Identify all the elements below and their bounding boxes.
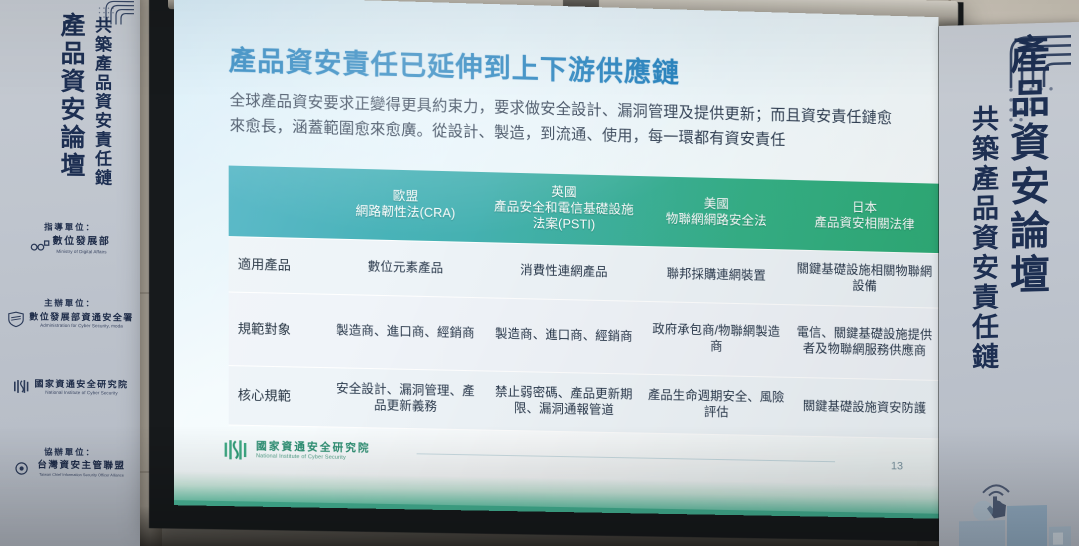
- sponsor-block-guidance: 指導單位： 數位發展部 Ministry of Digital Affairs: [0, 220, 140, 254]
- table-body: 適用產品 數位元素產品 消費性連網產品 聯邦採購連網裝置 關鍵基礎設施相關物聯網…: [229, 237, 939, 439]
- sponsor-heading-organizer: 主辦單位：: [0, 296, 140, 309]
- table-header-corner: [229, 166, 326, 239]
- slide-page-number: 13: [891, 460, 903, 472]
- banner-left-subtitle: 共築產品資安責任鏈: [89, 16, 114, 188]
- sponsor-name-en-guidance: Ministry of Digital Affairs: [53, 248, 111, 254]
- cell-applicable-jp: 關鍵基礎設施相關物聯網設備: [790, 250, 939, 308]
- footer-divider: [417, 453, 835, 462]
- cell-entities-eu: 製造商、進口商、經銷商: [326, 294, 485, 371]
- sponsor-name-en-organizer: Administration for Cyber Security, moda: [29, 323, 133, 329]
- nics-logo-icon: [12, 379, 32, 395]
- presentation-slide: 產品資安責任已延伸到上下游供應鏈 全球產品資安要求正變得更具約束力，要求做安全設…: [174, 0, 939, 519]
- sponsor-heading-guidance: 指導單位：: [0, 220, 140, 233]
- projector-screen: 產品資安責任已延伸到上下游供應鏈 全球產品資安要求正變得更具約束力，要求做安全設…: [174, 0, 939, 519]
- table-header-eu: 歐盟 網路韌性法(CRA): [326, 168, 485, 243]
- banner-right-subtitle: 共築產品資安責任鏈: [964, 104, 1003, 372]
- cell-entities-us: 政府承包商/物聯網製造商: [643, 301, 790, 377]
- row-label-core-requirements: 核心規範: [229, 366, 326, 427]
- sponsor-name-en-coorganizer: Taiwan Chief Information Security Office…: [37, 473, 125, 478]
- ciso-alliance-icon: [14, 460, 34, 476]
- footer-org-name: 國家資通安全研究院: [256, 441, 371, 455]
- footer-org-name-en: National Institute of Cyber Security: [256, 454, 371, 462]
- sponsor-name-nics: 國家資通安全研究院: [35, 379, 129, 390]
- cell-entities-uk: 製造商、進口商、經銷商: [485, 298, 643, 374]
- nics-logo-icon: [223, 438, 249, 463]
- sponsor-name-organizer: 數位發展部資通安全署: [29, 312, 133, 323]
- banner-photo-graphic: [953, 482, 1073, 546]
- cell-core-eu: 安全設計、漏洞管理、產品更新義務: [326, 368, 485, 430]
- cell-core-us: 產品生命週期安全、風險評估: [643, 374, 790, 436]
- table-header-uk: 英國 產品安全和電信基礎設施法案(PSTI): [485, 172, 643, 246]
- event-banner-left: 產品資安論壇 共築產品資安責任鏈 指導單位： 數位發展部 Ministry of…: [0, 0, 140, 546]
- table-header-jp: 日本 產品資安相關法律: [790, 180, 939, 254]
- cell-applicable-us: 聯邦採購連網裝置: [643, 246, 790, 304]
- comparison-table: 歐盟 網路韌性法(CRA) 英國 產品安全和電信基礎設施法案(PSTI) 美國 …: [229, 166, 939, 440]
- cell-applicable-uk: 消費性連網產品: [485, 243, 643, 302]
- sponsor-block-coorganizer: 協辦單位： 台灣資安主管聯盟 Taiwan Chief Information …: [0, 445, 140, 477]
- event-banner-right: 產品資安論壇 共築產品資安責任鏈: [939, 22, 1079, 546]
- slide-footer: 國家資通安全研究院 National Institute of Cyber Se…: [223, 438, 371, 465]
- sponsor-heading-coorganizer: 協辦單位：: [0, 445, 140, 458]
- cell-entities-jp: 電信、關鍵基礎設施提供者及物聯網服務供應商: [790, 305, 939, 381]
- header-law-jp: 產品資安相關法律: [794, 215, 936, 234]
- acs-shield-icon: [6, 312, 26, 328]
- sponsor-block-nics: 國家資通安全研究院 National Institute of Cyber Se…: [0, 375, 140, 396]
- header-law-eu: 網路韌性法(CRA): [330, 203, 481, 223]
- header-law-uk: 產品安全和電信基礎設施法案(PSTI): [489, 199, 639, 235]
- sponsor-name-guidance: 數位發展部: [53, 236, 111, 248]
- table-header-us: 美國 物聯網網路安全法: [643, 176, 790, 250]
- sponsor-name-en-nics: National Institute of Cyber Security: [35, 390, 129, 396]
- slide-body-text: 全球產品資安要求正變得更具約束力，要求做安全設計、漏洞管理及提供更新；而且資安責…: [230, 89, 897, 156]
- banner-left-title: 產品資安論壇: [52, 12, 88, 180]
- moda-logo-icon: [30, 236, 50, 252]
- cell-applicable-eu: 數位元素產品: [326, 239, 485, 298]
- slide-title: 產品資安責任已延伸到上下游供應鏈: [229, 39, 680, 91]
- row-label-applicable-products: 適用產品: [229, 237, 326, 295]
- sponsor-block-organizer: 主辦單位： 數位發展部資通安全署 Administration for Cybe…: [0, 296, 140, 329]
- row-label-regulated-entities: 規範對象: [229, 292, 326, 368]
- banner-right-title: 產品資安論壇: [997, 33, 1055, 299]
- header-law-us: 物聯網網路安全法: [647, 211, 786, 230]
- conference-room-scene: 產品資安論壇 共築產品資安責任鏈 指導單位： 數位發展部 Ministry of…: [0, 0, 1079, 546]
- cell-core-uk: 禁止弱密碼、產品更新期限、漏洞通報管道: [485, 371, 643, 433]
- sponsor-name-coorganizer: 台灣資安主管聯盟: [37, 461, 125, 473]
- cell-core-jp: 關鍵基礎設施資安防護: [790, 377, 939, 439]
